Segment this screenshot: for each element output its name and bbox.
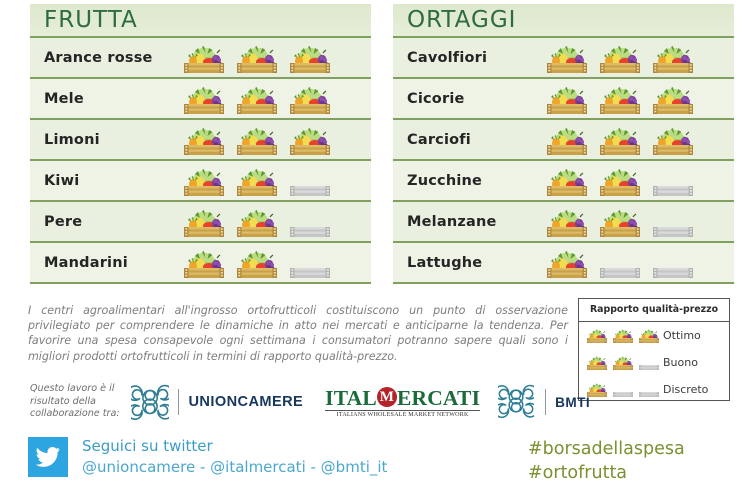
row-rating-crates bbox=[543, 205, 697, 239]
row-rating-crates bbox=[180, 246, 334, 280]
row-rating-crates bbox=[543, 123, 697, 157]
twitter-block[interactable]: Seguici su twitter @unioncamere - @italm… bbox=[28, 436, 387, 478]
legend-rows: OttimoBuonoDiscreto bbox=[579, 322, 729, 403]
crate-full-icon bbox=[543, 205, 591, 239]
table-header-frutta: FRUTTA bbox=[30, 4, 371, 38]
table-row: Mandarini bbox=[30, 243, 371, 284]
crate-full-icon bbox=[543, 41, 591, 75]
row-rating-crates bbox=[543, 246, 697, 280]
crate-full-icon bbox=[585, 327, 609, 344]
table-row: Cicorie bbox=[393, 79, 734, 120]
crate-full-icon bbox=[233, 205, 281, 239]
italmercati-logo: ITAL M ERCATI ITALIANS WHOLESALE MARKET … bbox=[325, 387, 480, 418]
row-rating-crates bbox=[180, 164, 334, 198]
crate-full-icon bbox=[543, 82, 591, 116]
row-label: Arance rosse bbox=[30, 50, 180, 66]
crate-full-icon bbox=[543, 246, 591, 280]
hashtag-ortofrutta[interactable]: #ortofrutta bbox=[528, 461, 685, 485]
table-row: Kiwi bbox=[30, 161, 371, 202]
italmercati-subtitle: ITALIANS WHOLESALE MARKET NETWORK bbox=[325, 410, 480, 418]
crate-full-icon bbox=[233, 123, 281, 157]
crate-full-icon bbox=[180, 205, 228, 239]
crate-full-icon bbox=[596, 164, 644, 198]
crate-full-icon bbox=[649, 123, 697, 157]
row-label: Carciofi bbox=[393, 132, 543, 148]
italmercati-wordmark: ITAL M ERCATI bbox=[325, 387, 480, 409]
crate-empty-icon bbox=[611, 381, 635, 398]
row-rating-crates bbox=[543, 164, 697, 198]
twitter-icon[interactable] bbox=[28, 437, 68, 477]
legend-rating-crates bbox=[585, 327, 663, 344]
row-rating-crates bbox=[180, 123, 334, 157]
crate-empty-icon bbox=[286, 164, 334, 198]
table-row: Zucchine bbox=[393, 161, 734, 202]
table-row: Mele bbox=[30, 79, 371, 120]
bmti-name: BMTI bbox=[555, 395, 590, 410]
description-paragraph: I centri agroalimentari all'ingrosso ort… bbox=[28, 303, 568, 364]
table-title: FRUTTA bbox=[44, 7, 138, 33]
row-rating-crates bbox=[180, 41, 334, 75]
legend-rating-crates bbox=[585, 354, 663, 371]
twitter-follow-label: Seguici su twitter bbox=[82, 436, 387, 457]
crate-full-icon bbox=[180, 246, 228, 280]
crate-empty-icon bbox=[286, 205, 334, 239]
table-header-ortaggi: ORTAGGI bbox=[393, 4, 734, 38]
crate-empty-icon bbox=[637, 381, 661, 398]
hashtag-borsadellaspesa[interactable]: #borsadellaspesa bbox=[528, 437, 685, 461]
row-label: Mandarini bbox=[30, 255, 180, 271]
crate-full-icon bbox=[543, 164, 591, 198]
legend-row: Ottimo bbox=[579, 322, 729, 349]
logo-divider bbox=[545, 389, 546, 415]
row-rating-crates bbox=[180, 205, 334, 239]
table-frutta: FRUTTA Arance rosseMeleLimoniKiwiPereMan… bbox=[30, 4, 371, 284]
table-row: Carciofi bbox=[393, 120, 734, 161]
crate-full-icon bbox=[233, 164, 281, 198]
crate-empty-icon bbox=[649, 246, 697, 280]
italmercati-part1: ITAL bbox=[325, 387, 377, 409]
crate-full-icon bbox=[596, 123, 644, 157]
crate-empty-icon bbox=[649, 205, 697, 239]
logo-divider bbox=[178, 389, 179, 415]
crate-full-icon bbox=[180, 164, 228, 198]
table-title: ORTAGGI bbox=[407, 7, 516, 33]
crate-full-icon bbox=[611, 354, 635, 371]
crate-full-icon bbox=[233, 82, 281, 116]
row-label: Mele bbox=[30, 91, 180, 107]
crate-empty-icon bbox=[637, 354, 661, 371]
row-rating-crates bbox=[543, 82, 697, 116]
table-row: Lattughe bbox=[393, 243, 734, 284]
crate-full-icon bbox=[596, 41, 644, 75]
collaboration-row: Questo lavoro è il risultato della colla… bbox=[30, 378, 590, 426]
crate-full-icon bbox=[180, 41, 228, 75]
italmercati-m-badge: M bbox=[377, 387, 397, 407]
unioncamere-mark-icon bbox=[131, 383, 169, 421]
crate-full-icon bbox=[649, 41, 697, 75]
unioncamere-logo: UNIONCAMERE bbox=[131, 383, 303, 421]
table-row: Cavolfiori bbox=[393, 38, 734, 79]
unioncamere-name: UNIONCAMERE bbox=[188, 394, 303, 410]
table-row: Melanzane bbox=[393, 202, 734, 243]
crate-full-icon bbox=[286, 123, 334, 157]
row-label: Pere bbox=[30, 214, 180, 230]
bmti-logo: BMTI bbox=[498, 383, 590, 421]
twitter-text: Seguici su twitter @unioncamere - @italm… bbox=[82, 436, 387, 478]
row-label: Cavolfiori bbox=[393, 50, 543, 66]
crate-full-icon bbox=[543, 123, 591, 157]
legend-title: Rapporto qualità-prezzo bbox=[579, 299, 729, 322]
table-row: Pere bbox=[30, 202, 371, 243]
crate-empty-icon bbox=[649, 164, 697, 198]
crate-full-icon bbox=[286, 41, 334, 75]
legend-row: Discreto bbox=[579, 376, 729, 403]
crate-full-icon bbox=[596, 82, 644, 116]
legend-row: Buono bbox=[579, 349, 729, 376]
crate-full-icon bbox=[180, 82, 228, 116]
row-label: Lattughe bbox=[393, 255, 543, 271]
table-ortaggi: ORTAGGI CavolfioriCicorieCarciofiZucchin… bbox=[393, 4, 734, 284]
crate-full-icon bbox=[180, 123, 228, 157]
crate-full-icon bbox=[233, 246, 281, 280]
row-rating-crates bbox=[543, 41, 697, 75]
row-label: Limoni bbox=[30, 132, 180, 148]
row-label: Kiwi bbox=[30, 173, 180, 189]
row-label: Cicorie bbox=[393, 91, 543, 107]
table-row: Limoni bbox=[30, 120, 371, 161]
crate-full-icon bbox=[233, 41, 281, 75]
row-label: Melanzane bbox=[393, 214, 543, 230]
legend-rating-crates bbox=[585, 381, 663, 398]
crate-full-icon bbox=[596, 205, 644, 239]
crate-full-icon bbox=[585, 354, 609, 371]
crate-full-icon bbox=[649, 82, 697, 116]
twitter-handles[interactable]: @unioncamere - @italmercati - @bmti_it bbox=[82, 457, 387, 478]
bmti-mark-icon bbox=[498, 383, 536, 421]
crate-full-icon bbox=[611, 327, 635, 344]
infographic-page: FRUTTA Arance rosseMeleLimoniKiwiPereMan… bbox=[0, 0, 750, 500]
hashtags-block: #borsadellaspesa #ortofrutta bbox=[528, 437, 685, 485]
table-body-frutta: Arance rosseMeleLimoniKiwiPereMandarini bbox=[30, 38, 371, 284]
crate-empty-icon bbox=[596, 246, 644, 280]
italmercati-part2: ERCATI bbox=[397, 387, 480, 409]
row-label: Zucchine bbox=[393, 173, 543, 189]
table-row: Arance rosse bbox=[30, 38, 371, 79]
crate-full-icon bbox=[637, 327, 661, 344]
collaboration-intro: Questo lavoro è il risultato della colla… bbox=[30, 383, 121, 420]
table-body-ortaggi: CavolfioriCicorieCarciofiZucchineMelanza… bbox=[393, 38, 734, 284]
crate-full-icon bbox=[286, 82, 334, 116]
legend-box: Rapporto qualità-prezzo OttimoBuonoDiscr… bbox=[578, 298, 730, 401]
crate-empty-icon bbox=[286, 246, 334, 280]
legend-label: Discreto bbox=[663, 383, 708, 396]
legend-label: Buono bbox=[663, 356, 698, 369]
legend-label: Ottimo bbox=[663, 329, 701, 342]
row-rating-crates bbox=[180, 82, 334, 116]
